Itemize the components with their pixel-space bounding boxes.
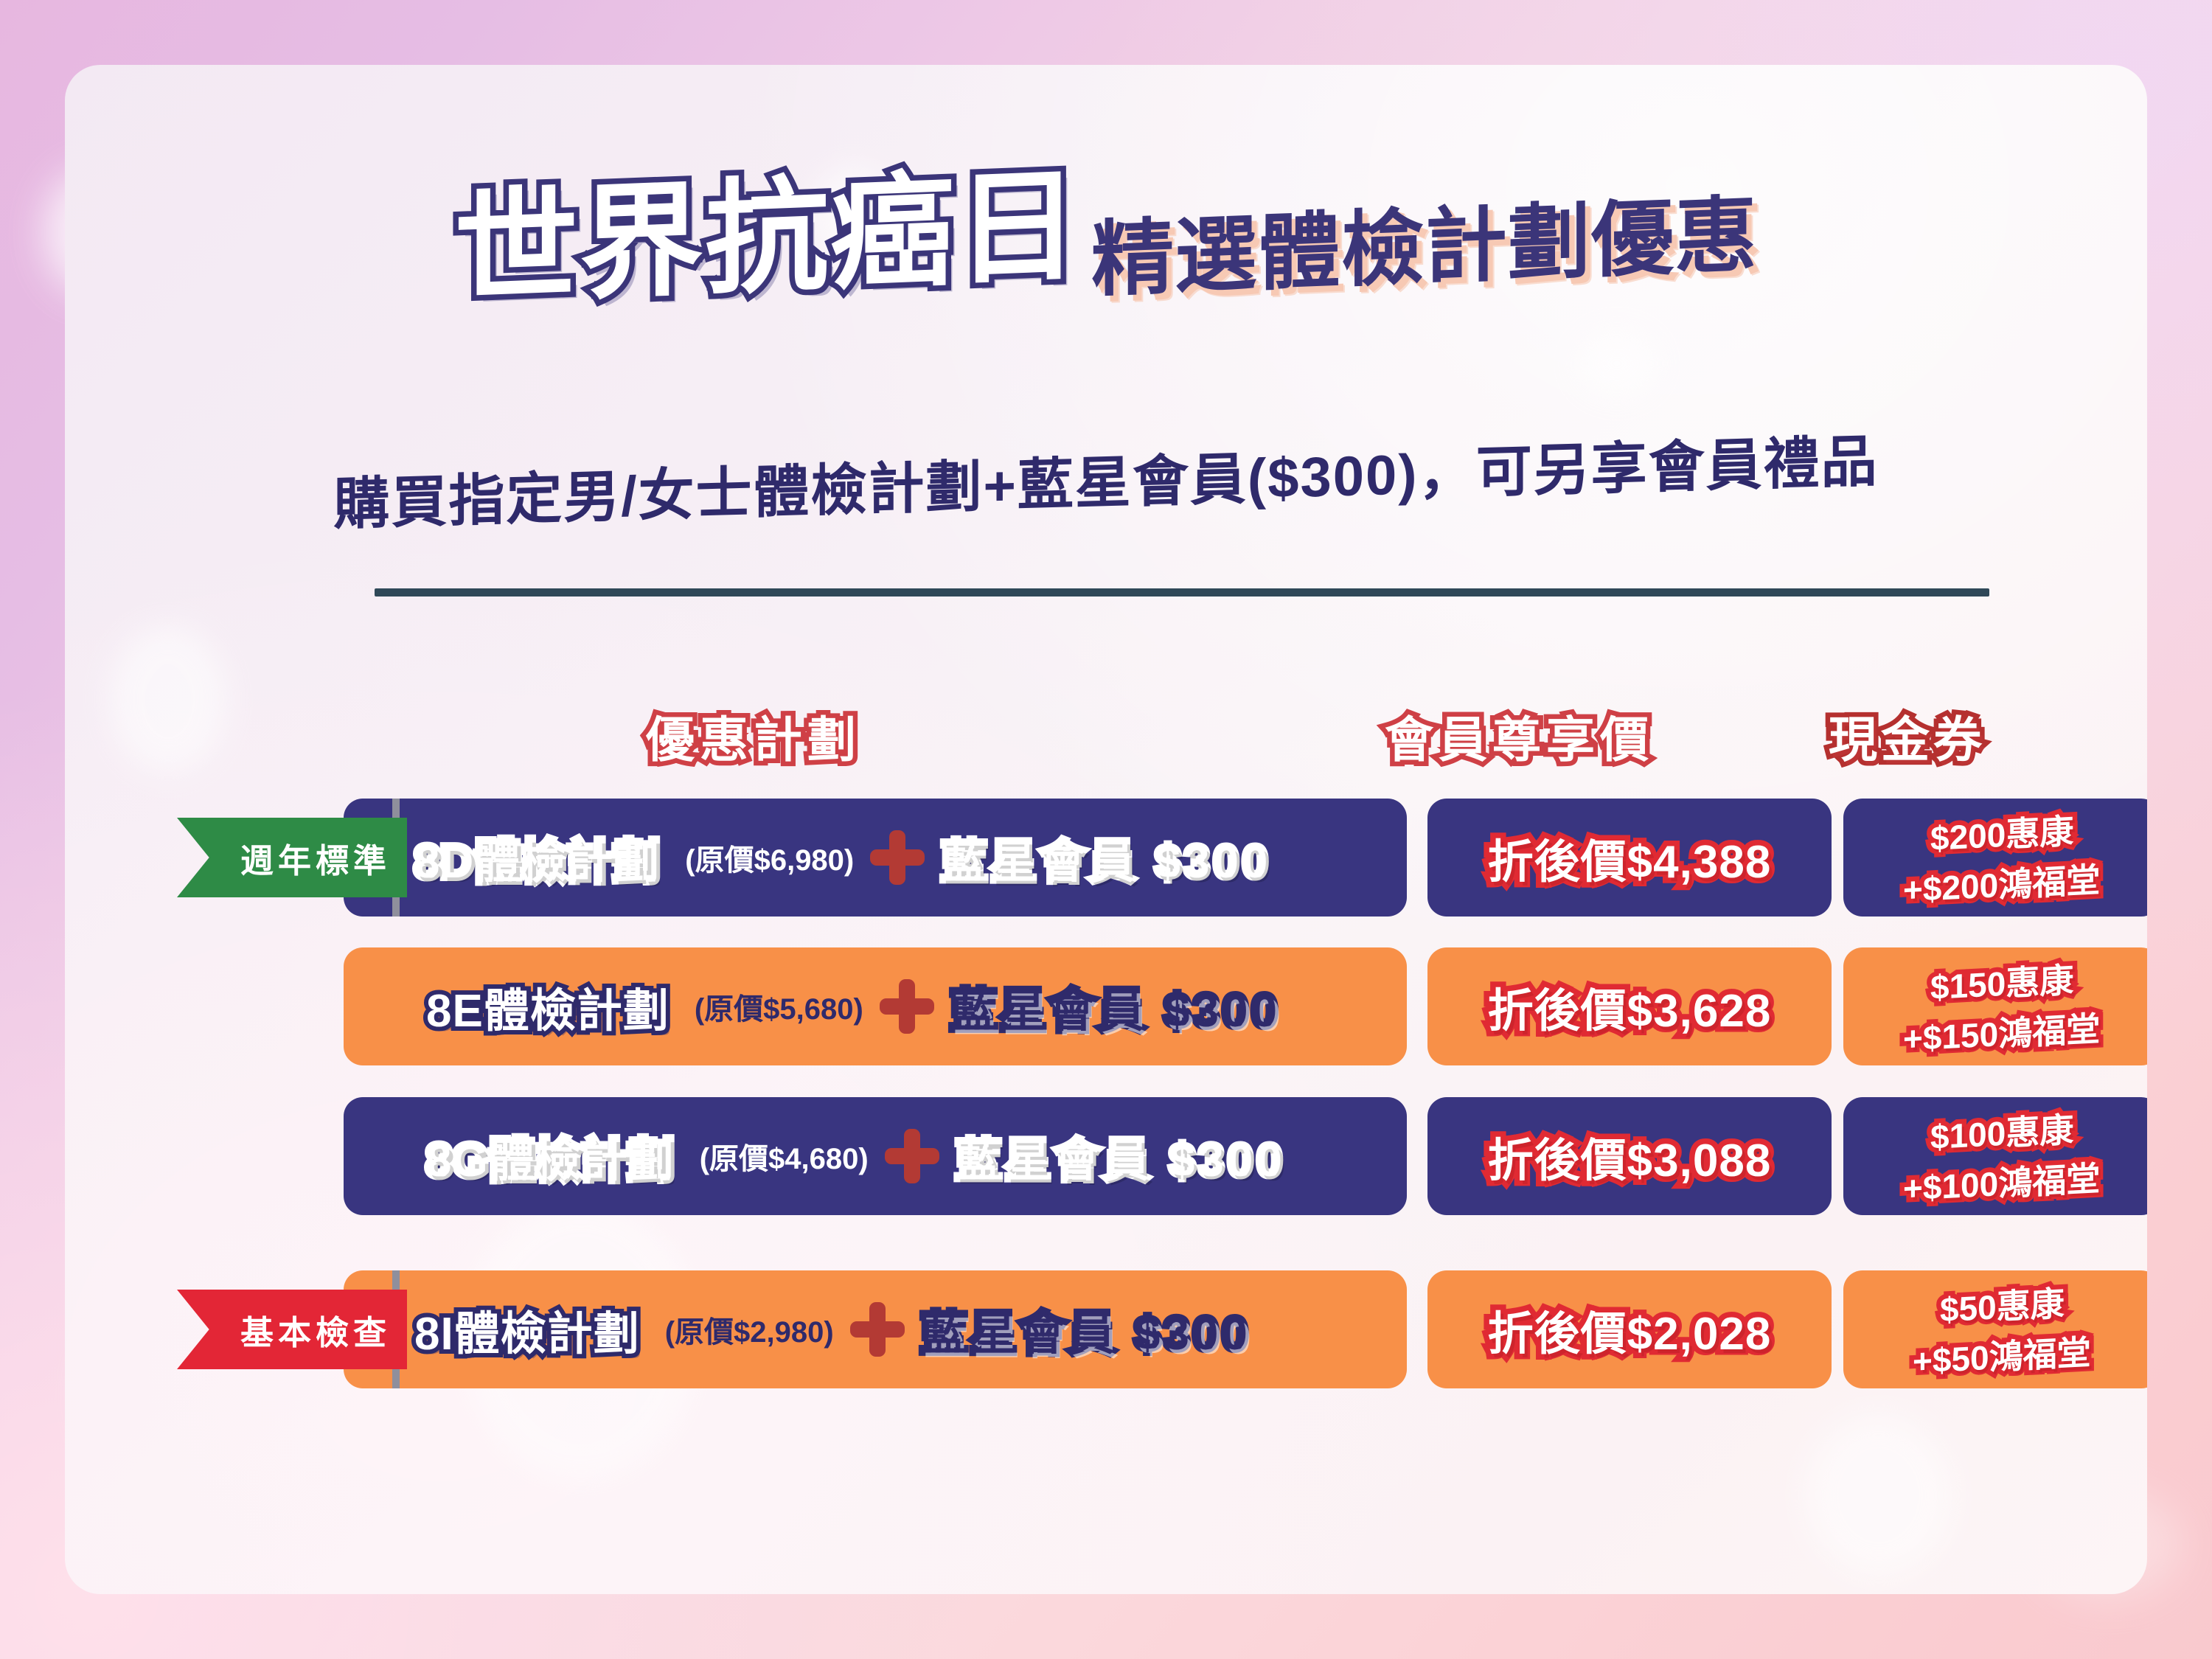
column-header-plan: 優惠計劃 — [646, 700, 861, 771]
table-row: 8E體檢計劃 (原價$5,680) 藍星會員 $300 折後價$3,628 $1… — [65, 947, 2147, 1065]
table-row: 8I體檢計劃 (原價$2,980) 藍星會員 $300 基本檢查 折後價$2,0… — [65, 1270, 2147, 1388]
voucher-cell[interactable]: $200惠康 +$200鴻福堂 — [1843, 799, 2147, 917]
plus-icon — [885, 1129, 939, 1183]
voucher-line-1: $200惠康 — [1930, 804, 2073, 860]
badge-label: 基本檢查 — [240, 1306, 391, 1354]
original-price: (原價$5,680) — [695, 985, 863, 1028]
member-addon: 藍星會員 $300 — [941, 824, 1271, 891]
voucher-line-1: $50惠康 — [1940, 1277, 2065, 1332]
member-addon: 藍星會員 $300 — [921, 1296, 1251, 1363]
plus-icon — [870, 830, 925, 885]
title-sub: 精選體檢計劃優惠 — [1091, 194, 1758, 302]
original-price: (原價$2,980) — [665, 1308, 834, 1351]
subtitle: 購買指定男/女士體檢計劃+藍星會員($300)，可另享會員禮品 — [65, 408, 2147, 548]
plan-name: 8I體檢計劃 — [414, 1296, 640, 1363]
voucher-cell[interactable]: $50惠康 +$50鴻福堂 — [1843, 1270, 2147, 1388]
decorative-mist — [109, 625, 227, 773]
title-main: 世界抗癌日 — [454, 164, 1081, 312]
voucher-line-2: +$50鴻福堂 — [1913, 1326, 2091, 1384]
plan-name: 8G體檢計劃 — [426, 1123, 675, 1189]
badge-label: 週年標準 — [240, 834, 391, 882]
plus-icon — [850, 1302, 905, 1357]
member-addon: 藍星會員 $300 — [950, 973, 1281, 1040]
table-row: 8D體檢計劃 (原價$6,980) 藍星會員 $300 週年標準 折後價$4,3… — [65, 799, 2147, 917]
plan-bar[interactable]: 8I體檢計劃 (原價$2,980) 藍星會員 $300 — [344, 1270, 1407, 1388]
plan-bar[interactable]: 8G體檢計劃 (原價$4,680) 藍星會員 $300 — [344, 1097, 1407, 1215]
member-price-cell[interactable]: 折後價$3,088 — [1427, 1097, 1832, 1215]
plan-bar[interactable]: 8D體檢計劃 (原價$6,980) 藍星會員 $300 — [344, 799, 1407, 917]
promo-poster: 世界抗癌日 精選體檢計劃優惠 購買指定男/女士體檢計劃+藍星會員($300)，可… — [0, 0, 2212, 1659]
plan-bar[interactable]: 8E體檢計劃 (原價$5,680) 藍星會員 $300 — [344, 947, 1407, 1065]
member-price-cell[interactable]: 折後價$4,388 — [1427, 799, 1832, 917]
column-header-voucher: 現金券 — [1829, 700, 1986, 771]
member-price-cell[interactable]: 折後價$3,628 — [1427, 947, 1832, 1065]
voucher-line-1: $150惠康 — [1930, 953, 2073, 1009]
column-header-member-price: 會員尊享價 — [1385, 700, 1654, 771]
voucher-line-2: +$100鴻福堂 — [1903, 1152, 2100, 1211]
voucher-line-2: +$150鴻福堂 — [1903, 1002, 2100, 1061]
content-panel: 世界抗癌日 精選體檢計劃優惠 購買指定男/女士體檢計劃+藍星會員($300)，可… — [65, 65, 2147, 1594]
table-row: 8G體檢計劃 (原價$4,680) 藍星會員 $300 折後價$3,088 $1… — [65, 1097, 2147, 1215]
plan-name: 8E體檢計劃 — [426, 973, 669, 1040]
member-price-cell[interactable]: 折後價$2,028 — [1427, 1270, 1832, 1388]
decorative-mist — [1805, 1414, 1952, 1576]
status-badge: 基本檢查 — [177, 1290, 407, 1369]
voucher-cell[interactable]: $150惠康 +$150鴻福堂 — [1843, 947, 2147, 1065]
plan-name: 8D體檢計劃 — [414, 824, 660, 891]
member-addon: 藍星會員 $300 — [956, 1123, 1286, 1189]
plus-icon — [880, 979, 934, 1034]
voucher-line-2: +$200鴻福堂 — [1903, 853, 2100, 912]
status-badge: 週年標準 — [177, 818, 407, 897]
voucher-cell[interactable]: $100惠康 +$100鴻福堂 — [1843, 1097, 2147, 1215]
page-title: 世界抗癌日 精選體檢計劃優惠 — [65, 175, 2147, 299]
decorative-mist — [1576, 330, 1658, 397]
member-price-value: 折後價$3,628 — [1488, 973, 1772, 1040]
voucher-line-1: $100惠康 — [1930, 1103, 2073, 1159]
member-price-value: 折後價$4,388 — [1488, 824, 1772, 891]
member-price-value: 折後價$2,028 — [1488, 1296, 1772, 1363]
original-price: (原價$6,980) — [685, 836, 854, 879]
divider-rule — [375, 588, 1989, 597]
member-price-value: 折後價$3,088 — [1488, 1123, 1772, 1189]
original-price: (原價$4,680) — [700, 1135, 869, 1178]
